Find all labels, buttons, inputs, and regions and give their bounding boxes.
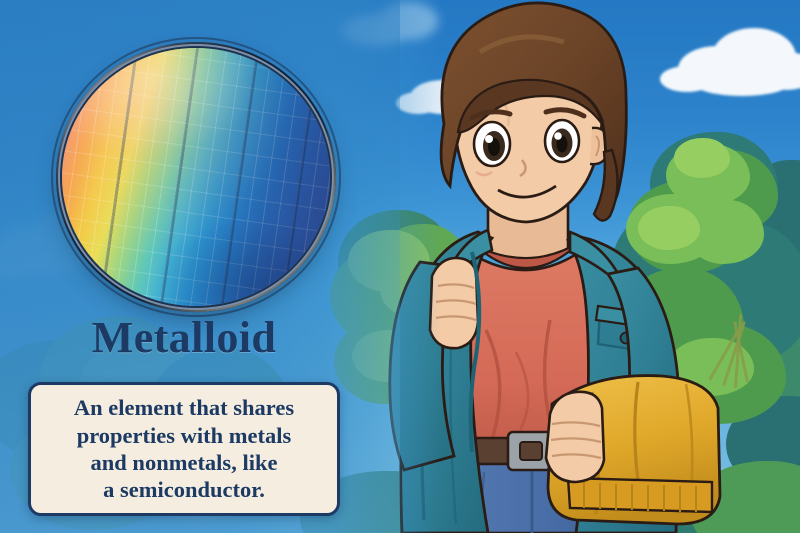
wafer-specular-sheen — [62, 48, 330, 306]
definition-text: An element that shares properties with m… — [64, 394, 304, 504]
wafer-disc — [62, 48, 330, 306]
character-hand-right — [546, 392, 604, 482]
definition-box: An element that shares properties with m… — [28, 382, 340, 516]
sweater-cuff — [568, 478, 712, 512]
silicon-wafer-illustration — [62, 48, 330, 306]
character-eye-left — [474, 122, 510, 166]
belt-buckle-tongue — [520, 442, 542, 460]
vocabulary-card: Metalloid An element that shares propert… — [0, 0, 800, 533]
character-eye-right — [545, 120, 579, 162]
page-title: Metalloid — [0, 312, 368, 363]
